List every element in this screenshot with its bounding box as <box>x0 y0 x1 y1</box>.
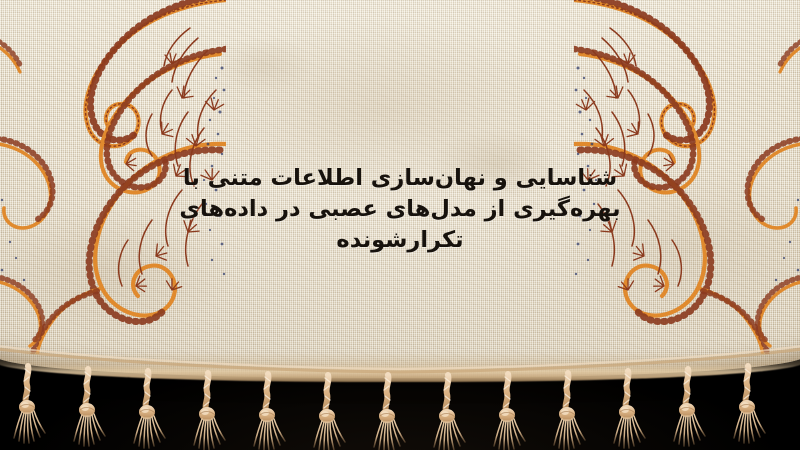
title-line-3: تکرارشونده <box>165 225 635 256</box>
title-line-1: شناسایی و نهان‌سازی اطلاعات متنی با <box>165 163 635 194</box>
title-line-2: بهره‌گیری از مدل‌های عصبی در داده‌های <box>165 194 635 225</box>
slide-canvas: شناسایی و نهان‌سازی اطلاعات متنی با بهره… <box>0 0 800 450</box>
slide-title: شناسایی و نهان‌سازی اطلاعات متنی با بهره… <box>165 163 635 256</box>
tassel-fringe <box>0 338 800 450</box>
